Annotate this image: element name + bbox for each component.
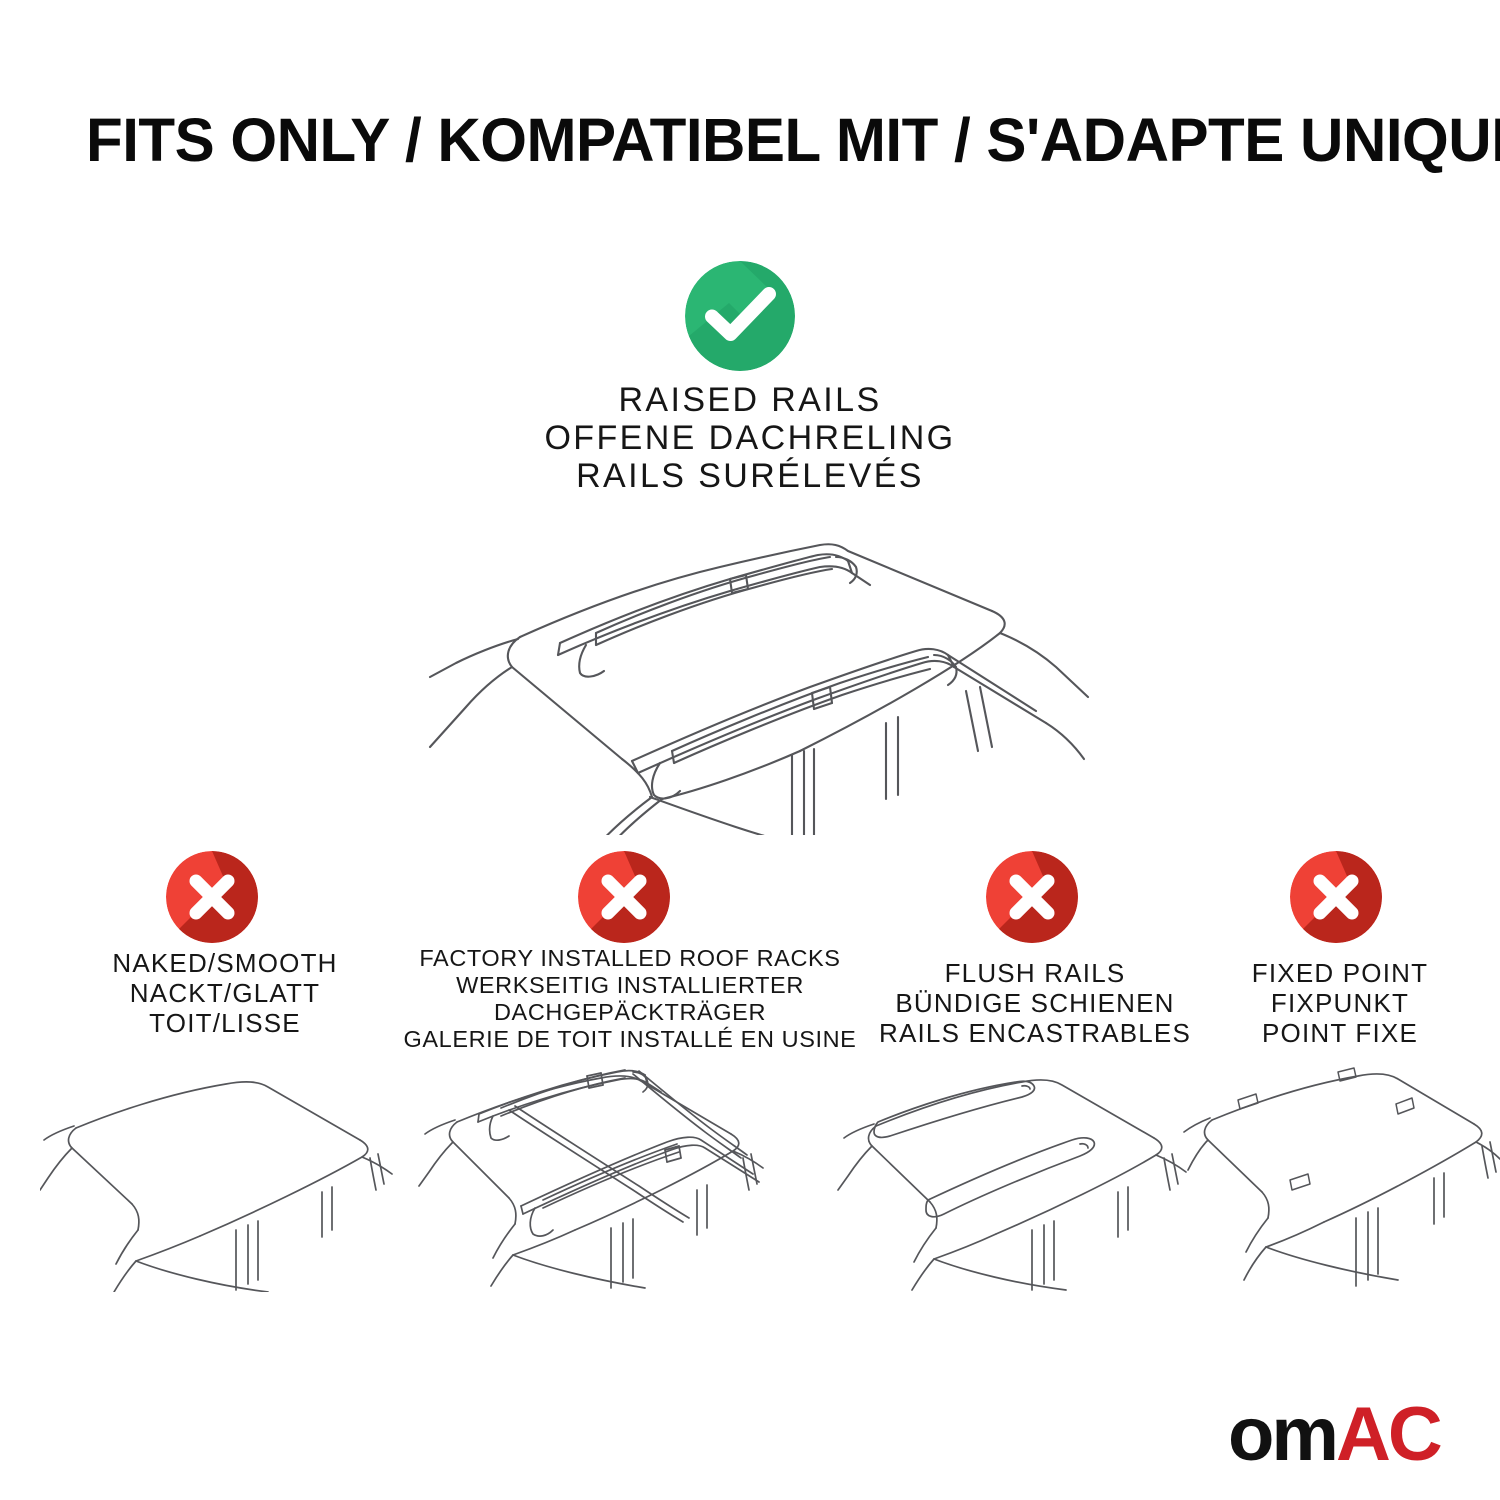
fixed-point-line-3: POINT FIXE bbox=[1190, 1018, 1490, 1048]
flush-rails-line-1: FLUSH RAILS bbox=[855, 958, 1215, 988]
naked-smooth-line-3: TOIT/LISSE bbox=[45, 1008, 405, 1038]
car-roof-factory-roof-racks-illustration bbox=[405, 1058, 785, 1292]
car-roof-with-raised-rails-illustration bbox=[400, 515, 1100, 835]
compatible-caption: RAISED RAILS OFFENE DACHRELING RAILS SUR… bbox=[450, 381, 1050, 495]
car-roof-fixed-point-illustration bbox=[1182, 1060, 1500, 1292]
red-cross-circle-icon bbox=[1290, 851, 1382, 943]
compatible-label-line-3: RAILS SURÉLEVÉS bbox=[450, 457, 1050, 495]
car-roof-naked-smooth-illustration bbox=[40, 1062, 410, 1292]
incompatible-caption-naked-smooth: NAKED/SMOOTH NACKT/GLATT TOIT/LISSE bbox=[45, 948, 405, 1038]
omac-logo: om AC bbox=[1228, 1398, 1440, 1472]
naked-smooth-line-2: NACKT/GLATT bbox=[45, 978, 405, 1008]
flush-rails-line-2: BÜNDIGE SCHIENEN bbox=[855, 988, 1215, 1018]
fixed-point-line-2: FIXPUNKT bbox=[1190, 988, 1490, 1018]
green-check-circle-icon bbox=[685, 261, 795, 371]
red-cross-circle-icon bbox=[986, 851, 1078, 943]
compatible-label-line-2: OFFENE DACHRELING bbox=[450, 419, 1050, 457]
flush-rails-line-3: RAILS ENCASTRABLES bbox=[855, 1018, 1215, 1048]
red-cross-circle-icon bbox=[578, 851, 670, 943]
logo-text-ac: AC bbox=[1336, 1398, 1440, 1472]
naked-smooth-line-1: NAKED/SMOOTH bbox=[45, 948, 405, 978]
page-title: FITS ONLY / KOMPATIBEL MIT / S'ADAPTE UN… bbox=[86, 104, 1396, 176]
incompatible-caption-fixed-point: FIXED POINT FIXPUNKT POINT FIXE bbox=[1190, 958, 1490, 1048]
compatible-label-line-1: RAISED RAILS bbox=[450, 381, 1050, 419]
incompatible-caption-factory-roof-racks: FACTORY INSTALLED ROOF RACKS WERKSEITIG … bbox=[395, 945, 865, 1053]
factory-racks-line-1: FACTORY INSTALLED ROOF RACKS bbox=[395, 945, 865, 972]
factory-racks-line-3: DACHGEPÄCKTRÄGER bbox=[395, 999, 865, 1026]
red-cross-circle-icon bbox=[166, 851, 258, 943]
factory-racks-line-4: GALERIE DE TOIT INSTALLÉ EN USINE bbox=[395, 1026, 865, 1053]
car-roof-flush-rails-illustration bbox=[832, 1060, 1212, 1292]
factory-racks-line-2: WERKSEITIG INSTALLIERTER bbox=[395, 972, 865, 999]
logo-text-om: om bbox=[1228, 1398, 1336, 1472]
fixed-point-line-1: FIXED POINT bbox=[1190, 958, 1490, 988]
incompatible-caption-flush-rails: FLUSH RAILS BÜNDIGE SCHIENEN RAILS ENCAS… bbox=[855, 958, 1215, 1048]
